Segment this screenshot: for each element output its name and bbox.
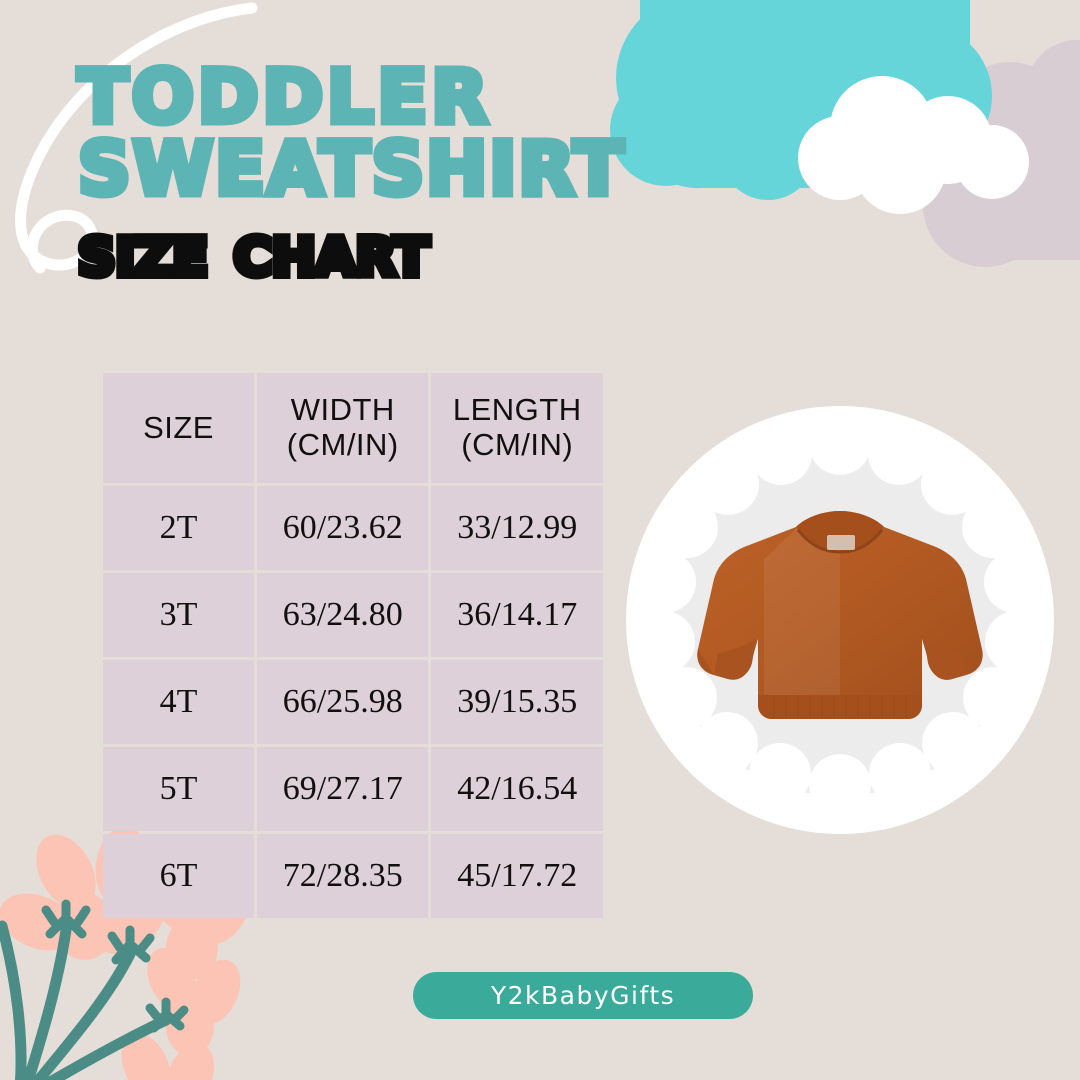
- cloud-white: [798, 76, 1029, 214]
- cell-size: 6T: [103, 834, 254, 918]
- shop-name-label: Y2kBabyGifts: [491, 981, 675, 1010]
- table-row: 6T 72/28.35 45/17.72: [103, 834, 603, 918]
- column-header-size: SIZE: [103, 373, 254, 483]
- column-header-length-unit: (CM/IN): [431, 428, 603, 463]
- flower-sepals: [46, 904, 184, 1028]
- table-row: 3T 63/24.80 36/14.17: [103, 573, 603, 657]
- size-chart-table: SIZE WIDTH (CM/IN) LENGTH (CM/IN) 2T 60/…: [100, 370, 606, 921]
- table-row: 5T 69/27.17 42/16.54: [103, 747, 603, 831]
- size-chart-poster: TODDLER SWEATSHIRT Size Chart SIZE WIDTH…: [0, 0, 1080, 1080]
- neck-label: [827, 535, 855, 550]
- column-header-width: WIDTH (CM/IN): [257, 373, 428, 483]
- cell-size: 4T: [103, 660, 254, 744]
- cell-length: 39/15.35: [431, 660, 603, 744]
- cell-width: 60/23.62: [257, 486, 428, 570]
- page-subtitle: Size Chart: [78, 213, 778, 287]
- cell-width: 72/28.35: [257, 834, 428, 918]
- cell-width: 69/27.17: [257, 747, 428, 831]
- column-header-width-unit: (CM/IN): [257, 428, 428, 463]
- shop-name-badge[interactable]: Y2kBabyGifts: [413, 972, 753, 1019]
- title-line-1: TODDLER: [78, 62, 778, 134]
- page-title-block: TODDLER SWEATSHIRT Size Chart: [78, 62, 778, 287]
- column-header-width-label: WIDTH: [291, 392, 395, 427]
- cell-width: 63/24.80: [257, 573, 428, 657]
- sweatshirt-hem: [758, 695, 922, 719]
- column-header-size-label: SIZE: [143, 410, 214, 445]
- table-row: 2T 60/23.62 33/12.99: [103, 486, 603, 570]
- product-image-frame: [622, 402, 1058, 838]
- column-header-length: LENGTH (CM/IN): [431, 373, 603, 483]
- table-header: SIZE WIDTH (CM/IN) LENGTH (CM/IN): [103, 373, 603, 483]
- sweatshirt-svg: [690, 499, 990, 759]
- table-body: 2T 60/23.62 33/12.99 3T 63/24.80 36/14.1…: [103, 486, 603, 918]
- cell-width: 66/25.98: [257, 660, 428, 744]
- table-header-row: SIZE WIDTH (CM/IN) LENGTH (CM/IN): [103, 373, 603, 483]
- column-header-length-label: LENGTH: [453, 392, 582, 427]
- sweatshirt-illustration: [690, 499, 990, 759]
- cell-size: 3T: [103, 573, 254, 657]
- flower-stems: [2, 926, 166, 1080]
- cell-size: 2T: [103, 486, 254, 570]
- cell-length: 45/17.72: [431, 834, 603, 918]
- cell-length: 36/14.17: [431, 573, 603, 657]
- title-line-2: SWEATSHIRT: [78, 134, 778, 206]
- cell-length: 42/16.54: [431, 747, 603, 831]
- cell-size: 5T: [103, 747, 254, 831]
- table-row: 4T 66/25.98 39/15.35: [103, 660, 603, 744]
- cell-length: 33/12.99: [431, 486, 603, 570]
- cloud-mauve: [923, 40, 1080, 267]
